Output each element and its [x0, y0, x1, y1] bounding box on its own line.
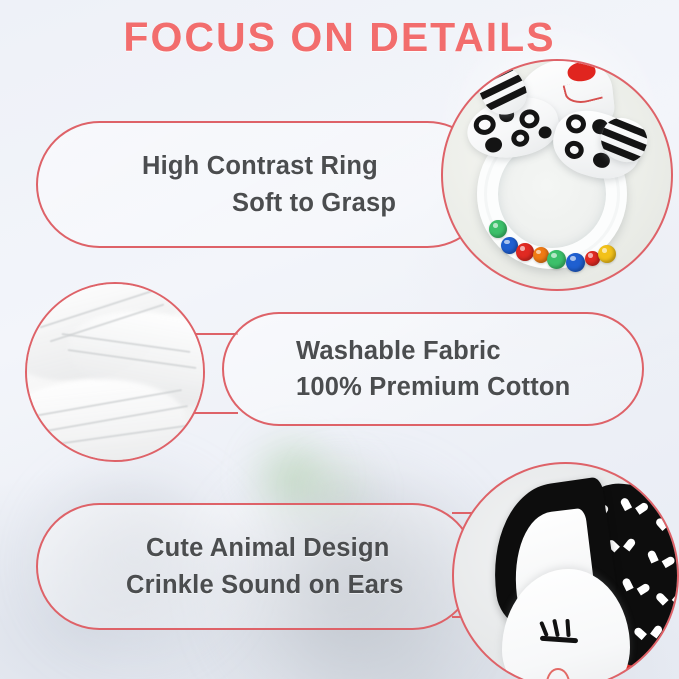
- pattern-dot: [538, 125, 553, 139]
- feature-pill-cute-animal-design: Cute Animal Design Crinkle Sound on Ears: [36, 503, 476, 630]
- pattern-ring-dot: [563, 139, 586, 162]
- feature-1-line-2: Soft to Grasp: [232, 185, 396, 221]
- bead-green-2: [547, 250, 566, 269]
- page-title: FOCUS ON DETAILS: [0, 14, 679, 61]
- pattern-heart: [640, 627, 656, 641]
- bead-green-1: [489, 220, 507, 238]
- bead-red-1: [516, 243, 534, 261]
- cat-eyelash: [539, 621, 549, 637]
- pattern-ring-dot: [564, 112, 588, 136]
- photo-callout-cat-plush: [452, 462, 679, 679]
- cat-eyelash: [565, 619, 570, 637]
- pattern-heart: [626, 580, 644, 597]
- photo-callout-washable-fabric: [25, 282, 205, 462]
- feature-2-line-1: Washable Fabric: [296, 333, 501, 369]
- teether-ring-illustration: [443, 61, 671, 289]
- pattern-heart: [614, 540, 630, 554]
- feature-3-line-2: Crinkle Sound on Ears: [126, 567, 404, 603]
- bead-blue-2: [566, 253, 585, 272]
- pattern-ring-dot: [518, 108, 542, 131]
- pattern-heart: [625, 499, 643, 515]
- pattern-dot: [484, 136, 504, 154]
- photo-callout-teether-ring: [441, 59, 673, 291]
- pattern-heart: [662, 519, 677, 532]
- feature-2-line-2: 100% Premium Cotton: [296, 369, 570, 405]
- feature-pill-washable-fabric: Washable Fabric 100% Premium Cotton: [222, 312, 644, 426]
- pattern-ring-dot: [510, 128, 531, 148]
- feature-3-line-1: Cute Animal Design: [146, 530, 390, 566]
- plush-smile: [563, 77, 603, 107]
- pattern-heart: [662, 593, 677, 607]
- pattern-ring-dot: [472, 113, 498, 137]
- bead-yellow-1: [598, 245, 616, 263]
- product-feature-poster: FOCUS ON DETAILS High Contrast Ring Soft…: [0, 0, 679, 679]
- fabric-texture-illustration: [27, 284, 203, 460]
- pattern-heart: [651, 552, 669, 569]
- cat-eyelash: [552, 619, 560, 637]
- cat-plush-illustration: [454, 464, 677, 679]
- feature-pill-high-contrast-ring: High Contrast Ring Soft to Grasp: [36, 121, 491, 248]
- feature-1-line-1: High Contrast Ring: [142, 148, 378, 184]
